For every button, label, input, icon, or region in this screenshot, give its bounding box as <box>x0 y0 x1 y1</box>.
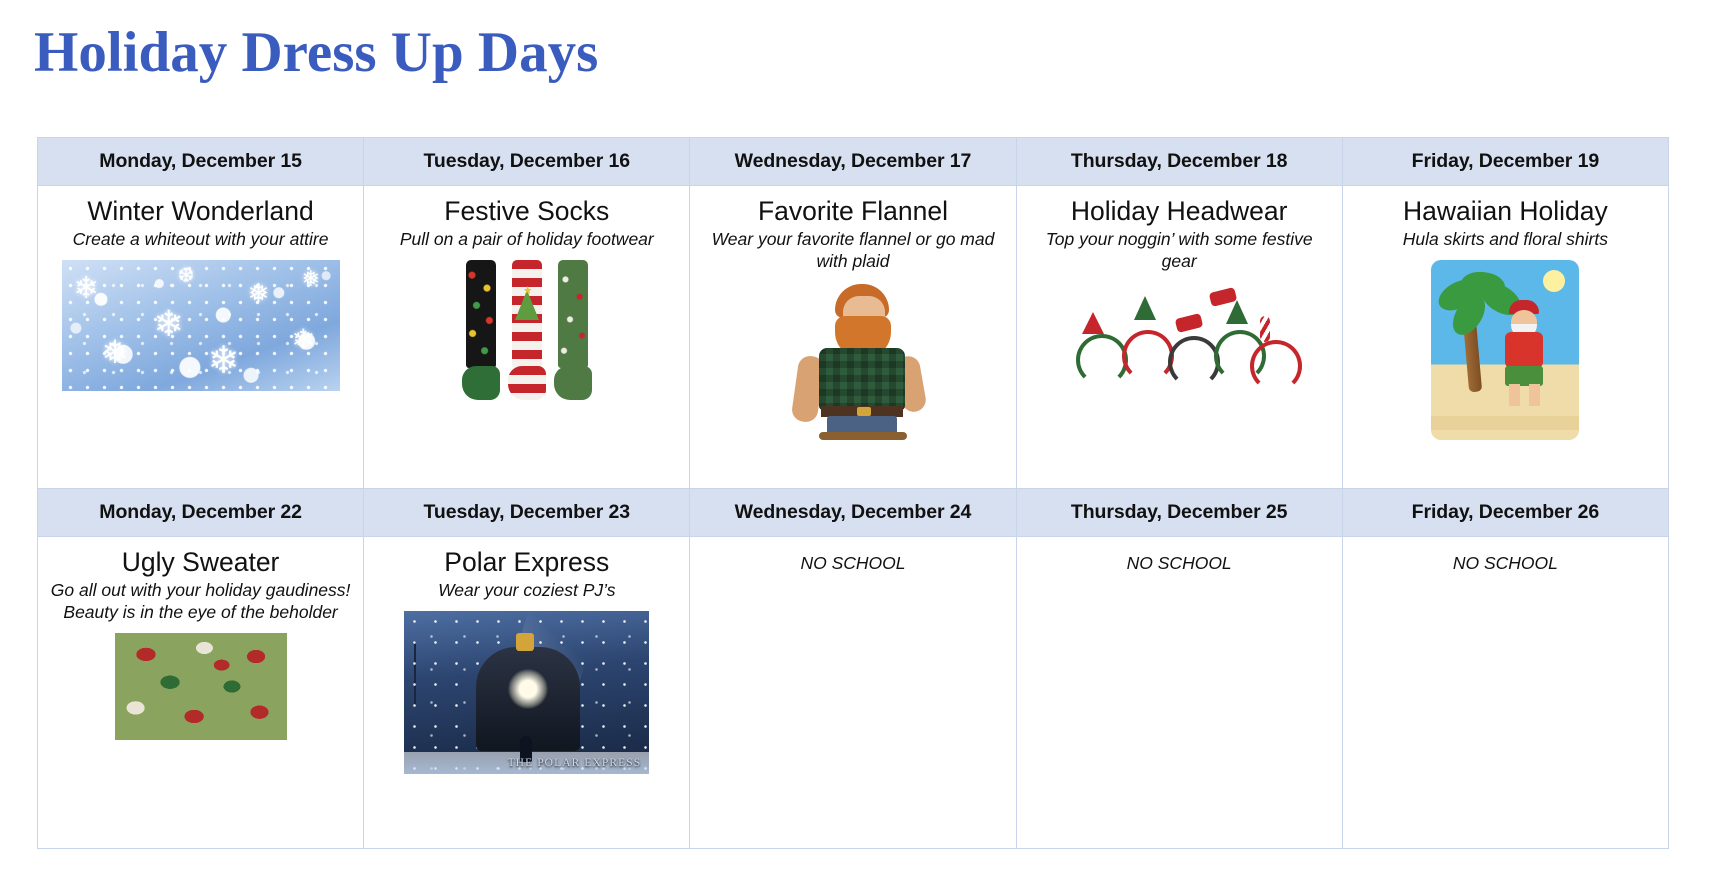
no-school-label-dec-26: NO SCHOOL <box>1351 546 1660 574</box>
day-title-holiday-headwear: Holiday Headwear <box>1025 195 1334 227</box>
week-1-body-row: Winter Wonderland Create a whiteout with… <box>38 186 1669 489</box>
day-title-winter-wonderland: Winter Wonderland <box>46 195 355 227</box>
day-cell-dec-23: Polar Express Wear your coziest PJ’s THE… <box>364 537 690 849</box>
day-header-dec-15: Monday, December 15 <box>38 138 364 186</box>
sock-candycane-icon <box>554 260 592 400</box>
day-header-dec-16: Tuesday, December 16 <box>364 138 690 186</box>
day-desc-polar-express: Wear your coziest PJ’s <box>372 579 681 601</box>
day-header-dec-24: Wednesday, December 24 <box>690 489 1016 537</box>
day-cell-dec-19: Hawaiian Holiday Hula skirts and floral … <box>1342 186 1668 489</box>
sock-lights-icon <box>462 260 500 400</box>
day-image-wrap-dec-23: THE POLAR EXPRESS <box>372 611 681 774</box>
polar-express-train-icon: THE POLAR EXPRESS <box>404 611 649 774</box>
day-title-hawaiian-holiday: Hawaiian Holiday <box>1351 195 1660 227</box>
day-cell-dec-15: Winter Wonderland Create a whiteout with… <box>38 186 364 489</box>
day-desc-holiday-headwear: Top your noggin’ with some festive gear <box>1025 228 1334 272</box>
no-school-label-dec-24: NO SCHOOL <box>698 546 1007 574</box>
day-header-dec-23: Tuesday, December 23 <box>364 489 690 537</box>
holiday-socks-icon: ★ <box>462 260 592 404</box>
polar-express-logo-caption: THE POLAR EXPRESS <box>508 757 642 769</box>
day-cell-dec-22: Ugly Sweater Go all out with your holida… <box>38 537 364 849</box>
no-school-label-dec-25: NO SCHOOL <box>1025 546 1334 574</box>
day-title-polar-express: Polar Express <box>372 546 681 578</box>
week-2-header-row: Monday, December 22 Tuesday, December 23… <box>38 489 1669 537</box>
day-header-dec-26: Friday, December 26 <box>1342 489 1668 537</box>
day-desc-ugly-sweater: Go all out with your holiday gaudiness! … <box>46 579 355 623</box>
day-image-wrap-dec-17 <box>698 282 1007 440</box>
christmas-headbands-icon <box>1064 282 1294 397</box>
day-cell-dec-17: Favorite Flannel Wear your favorite flan… <box>690 186 1016 489</box>
day-desc-winter-wonderland: Create a whiteout with your attire <box>46 228 355 250</box>
day-desc-festive-socks: Pull on a pair of holiday footwear <box>372 228 681 250</box>
page-title: Holiday Dress Up Days <box>34 18 598 88</box>
week-2-body-row: Ugly Sweater Go all out with your holida… <box>38 537 1669 849</box>
day-image-wrap-dec-15: ❄ ❄ ❅ ❅ ❄ ❄ ❆ ❅ <box>46 260 355 391</box>
day-title-festive-socks: Festive Socks <box>372 195 681 227</box>
day-header-dec-22: Monday, December 22 <box>38 489 364 537</box>
snowflakes-photo-icon: ❄ ❄ ❅ ❅ ❄ ❄ ❆ ❅ <box>62 260 340 391</box>
day-header-dec-19: Friday, December 19 <box>1342 138 1668 186</box>
day-image-wrap-dec-19 <box>1351 260 1660 440</box>
lumberjack-flannel-icon <box>773 282 933 440</box>
day-desc-favorite-flannel: Wear your favorite flannel or go mad wit… <box>698 228 1007 272</box>
day-title-favorite-flannel: Favorite Flannel <box>698 195 1007 227</box>
day-cell-dec-26: NO SCHOOL <box>1342 537 1668 849</box>
day-image-wrap-dec-22 <box>46 633 355 740</box>
sock-striped-tree-icon: ★ <box>508 260 546 400</box>
day-header-dec-25: Thursday, December 25 <box>1016 489 1342 537</box>
day-cell-dec-16: Festive Socks Pull on a pair of holiday … <box>364 186 690 489</box>
day-image-wrap-dec-16: ★ <box>372 260 681 404</box>
day-cell-dec-25: NO SCHOOL <box>1016 537 1342 849</box>
day-header-dec-18: Thursday, December 18 <box>1016 138 1342 186</box>
beach-santa-palm-tree-icon <box>1431 260 1579 440</box>
day-cell-dec-18: Holiday Headwear Top your noggin’ with s… <box>1016 186 1342 489</box>
day-title-ugly-sweater: Ugly Sweater <box>46 546 355 578</box>
day-header-dec-17: Wednesday, December 17 <box>690 138 1016 186</box>
day-image-wrap-dec-18 <box>1025 282 1334 397</box>
slide-canvas: Holiday Dress Up Days Monday, December 1… <box>0 0 1709 893</box>
dress-up-days-calendar: Monday, December 15 Tuesday, December 16… <box>37 137 1669 849</box>
week-1-header-row: Monday, December 15 Tuesday, December 16… <box>38 138 1669 186</box>
day-desc-hawaiian-holiday: Hula skirts and floral shirts <box>1351 228 1660 250</box>
day-cell-dec-24: NO SCHOOL <box>690 537 1016 849</box>
ugly-sweater-pattern-icon <box>115 633 287 740</box>
